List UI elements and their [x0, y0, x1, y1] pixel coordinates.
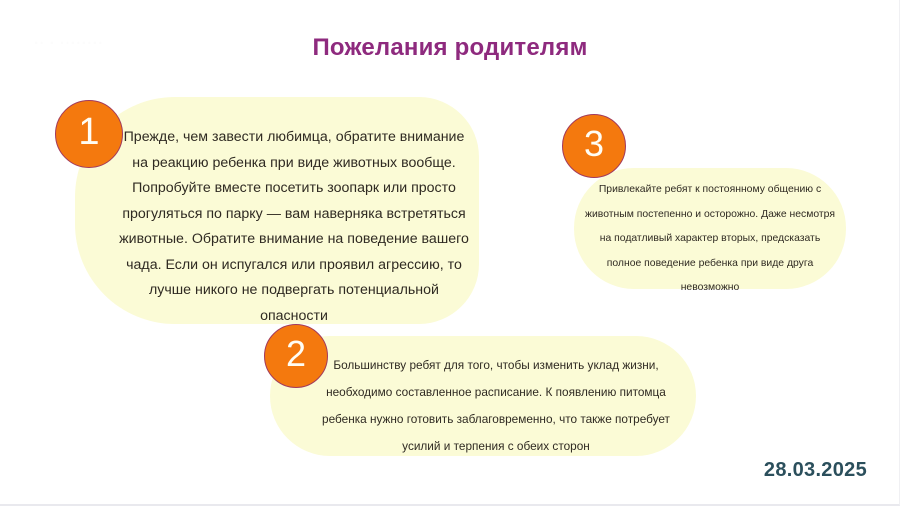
step-badge-2-number: 2 — [286, 336, 306, 376]
slide-date: 28.03.2025 — [764, 459, 867, 482]
slide-canvas: ·· · ········ Пожелания родителям Прежде… — [0, 0, 900, 506]
content-panel-2-text: Большинству ребят для того, чтобы измени… — [306, 352, 686, 460]
page-title: Пожелания родителям — [0, 34, 900, 62]
step-badge-3: 3 — [562, 114, 626, 178]
content-panel-1-text: Прежде, чем завести любимца, обратите вн… — [114, 125, 474, 329]
step-badge-1-number: 1 — [78, 113, 99, 155]
content-panel-3-text: Привлекайте ребят к постоянному общению … — [582, 178, 838, 301]
step-badge-2: 2 — [264, 324, 328, 388]
step-badge-3-number: 3 — [584, 126, 604, 166]
step-badge-1: 1 — [55, 100, 123, 168]
